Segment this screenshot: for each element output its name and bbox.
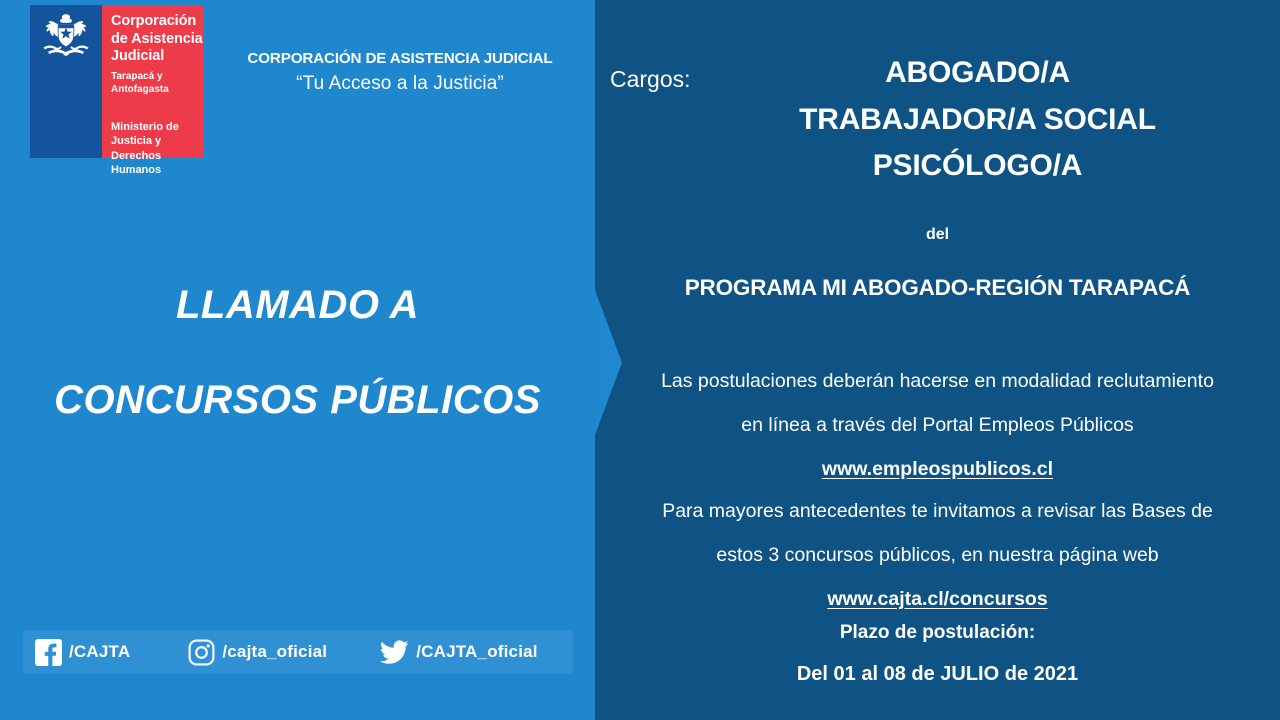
twitter-icon (380, 639, 409, 666)
chilean-coat-of-arms-icon (37, 13, 95, 61)
logo-ministry-line3: Derechos (111, 149, 204, 163)
cajta-concursos-url[interactable]: www.cajta.cl/concursos (605, 578, 1270, 622)
logo-ministry-line4: Humanos (111, 163, 204, 177)
announcement-content: Cargos: ABOGADO/A TRABAJADOR/A SOCIAL PS… (595, 0, 1280, 720)
cargo-item: TRABAJADOR/A SOCIAL (685, 97, 1270, 144)
twitter-handle: /CAJTA_oficial (416, 642, 538, 662)
facebook-icon (35, 639, 62, 666)
logo-blue-block (30, 5, 102, 158)
cargos-list: ABOGADO/A TRABAJADOR/A SOCIAL PSICÓLOGO/… (685, 50, 1270, 190)
logo-ministry-line1: Ministerio de (111, 120, 204, 134)
logo-region-line2: Antofagasta (111, 84, 204, 97)
logo-region: Tarapacá y Antofagasta (111, 71, 204, 96)
hero-title-line2: CONCURSOS PÚBLICOS (0, 380, 595, 420)
instructions-line1: Las postulaciones deberán hacerse en mod… (605, 360, 1270, 404)
institutional-logo: Corporación de Asistencia Judicial Tarap… (30, 5, 204, 158)
instagram-handle: /cajta_oficial (222, 642, 327, 662)
logo-region-line1: Tarapacá y (111, 71, 204, 84)
logo-red-block: Corporación de Asistencia Judicial Tarap… (102, 5, 204, 158)
logo-title: Corporación de Asistencia Judicial (111, 13, 204, 66)
social-link-facebook[interactable]: /CAJTA (35, 639, 130, 666)
additional-info-line1: Para mayores antecedentes te invitamos a… (605, 490, 1270, 534)
organization-slogan: “Tu Acceso a la Justicia” (205, 73, 595, 95)
hero-title-line1: LLAMADO A (0, 285, 595, 325)
program-name: PROGRAMA MI ABOGADO-REGIÓN TARAPACÁ (595, 275, 1280, 301)
instagram-icon (188, 639, 215, 666)
organization-name: CORPORACIÓN DE ASISTENCIA JUDICIAL (205, 50, 595, 67)
deadline-label: Plazo de postulación: (595, 622, 1280, 644)
del-connector: del (595, 226, 1280, 244)
cargo-item: PSICÓLOGO/A (685, 143, 1270, 190)
application-instructions: Las postulaciones deberán hacerse en mod… (605, 360, 1270, 492)
organization-header: CORPORACIÓN DE ASISTENCIA JUDICIAL “Tu A… (205, 50, 595, 95)
additional-info-line2: estos 3 concursos públicos, en nuestra p… (605, 534, 1270, 578)
cargo-item: ABOGADO/A (685, 50, 1270, 97)
logo-title-line1: Corporación (111, 13, 204, 31)
logo-title-line2: de Asistencia (111, 31, 204, 49)
hero-title: LLAMADO A CONCURSOS PÚBLICOS (0, 285, 595, 420)
social-media-bar: /CAJTA /cajta_oficial /CAJTA_oficial (23, 630, 573, 674)
poster-canvas: Corporación de Asistencia Judicial Tarap… (0, 0, 1280, 720)
logo-title-line3: Judicial (111, 48, 204, 66)
logo-ministry-line2: Justicia y (111, 134, 204, 148)
empleos-publicos-url[interactable]: www.empleospublicos.cl (605, 448, 1270, 492)
instructions-line2: en línea a través del Portal Empleos Púb… (605, 404, 1270, 448)
facebook-handle: /CAJTA (69, 642, 130, 662)
deadline-dates: Del 01 al 08 de JULIO de 2021 (595, 663, 1280, 686)
social-link-twitter[interactable]: /CAJTA_oficial (380, 639, 538, 666)
cargos-label: Cargos: (610, 66, 691, 93)
additional-info: Para mayores antecedentes te invitamos a… (605, 490, 1270, 622)
logo-ministry: Ministerio de Justicia y Derechos Humano… (111, 120, 204, 177)
social-link-instagram[interactable]: /cajta_oficial (188, 639, 327, 666)
